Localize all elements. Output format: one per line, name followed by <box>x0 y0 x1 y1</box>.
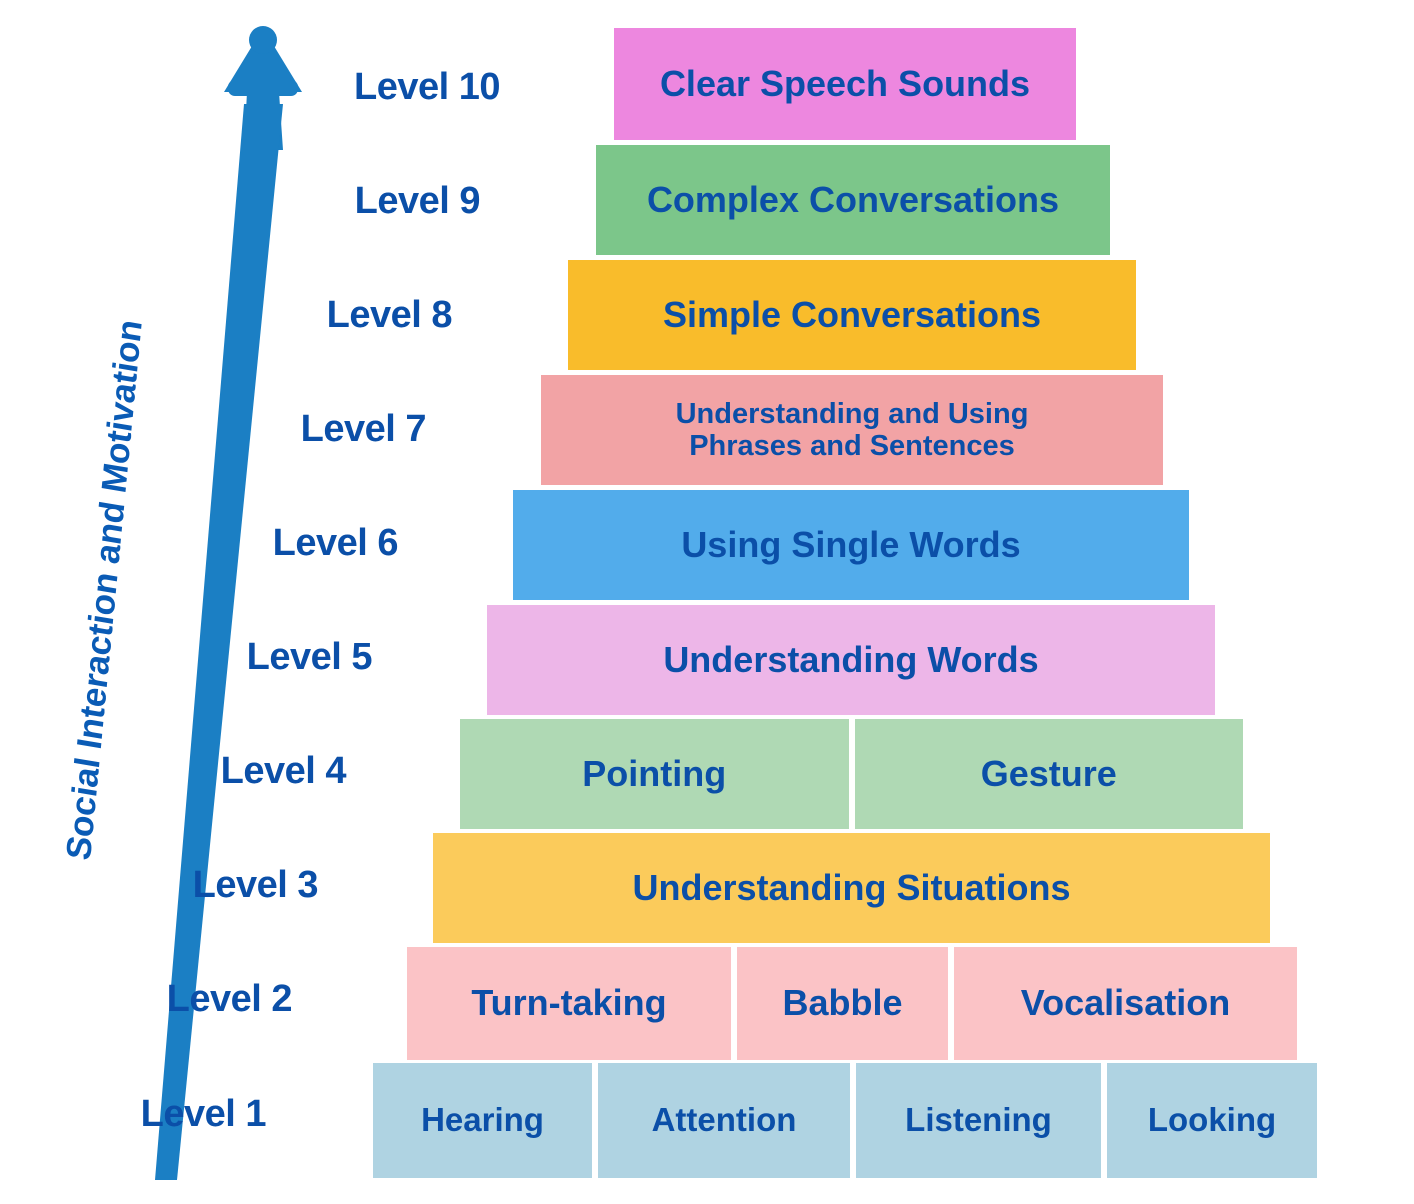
level-label-5: Level 5 <box>182 636 372 679</box>
pyramid-cell-understanding-situations[interactable]: Understanding Situations <box>433 833 1270 943</box>
pyramid-row-7: Understanding and Using Phrases and Sent… <box>541 375 1163 485</box>
pyramid-cell-vocalisation[interactable]: Vocalisation <box>954 947 1297 1060</box>
level-label-8: Level 8 <box>262 294 452 337</box>
pyramid-cell-attention[interactable]: Attention <box>598 1063 850 1178</box>
pyramid-row-5: Understanding Words <box>487 605 1215 715</box>
pyramid-row-3: Understanding Situations <box>433 833 1270 943</box>
pyramid-row-8: Simple Conversations <box>568 260 1136 370</box>
pyramid-row-4: Pointing Gesture <box>460 719 1243 829</box>
level-label-2: Level 2 <box>102 978 292 1021</box>
pyramid-row-1: Hearing Attention Listening Looking <box>373 1063 1317 1178</box>
pyramid-cell-understanding-and-using-phrases-and-sentences[interactable]: Understanding and Using Phrases and Sent… <box>541 375 1163 485</box>
level-label-6: Level 6 <box>208 522 398 565</box>
level-label-7: Level 7 <box>236 408 426 451</box>
pyramid-cell-hearing[interactable]: Hearing <box>373 1063 592 1178</box>
axis-label-social-interaction-and-motivation: Social Interaction and Motivation <box>56 278 155 902</box>
level-label-4: Level 4 <box>156 750 346 793</box>
pyramid-row-6: Using Single Words <box>513 490 1189 600</box>
pyramid-cell-babble[interactable]: Babble <box>737 947 948 1060</box>
pyramid-cell-complex-conversations[interactable]: Complex Conversations <box>596 145 1110 255</box>
level-label-1: Level 1 <box>76 1093 266 1136</box>
pyramid-cell-gesture[interactable]: Gesture <box>855 719 1244 829</box>
pyramid-cell-looking[interactable]: Looking <box>1107 1063 1317 1178</box>
level-label-3: Level 3 <box>128 864 318 907</box>
pyramid-cell-simple-conversations[interactable]: Simple Conversations <box>568 260 1136 370</box>
pyramid-cell-line-2: Phrases and Sentences <box>689 430 1015 462</box>
pyramid-cell-turn-taking[interactable]: Turn-taking <box>407 947 731 1060</box>
pyramid-cell-using-single-words[interactable]: Using Single Words <box>513 490 1189 600</box>
pyramid-cell-line-1: Understanding and Using <box>676 398 1029 430</box>
pyramid-cell-pointing[interactable]: Pointing <box>460 719 849 829</box>
pyramid-cell-clear-speech-sounds[interactable]: Clear Speech Sounds <box>614 28 1076 140</box>
pyramid-row-10: Clear Speech Sounds <box>614 28 1076 140</box>
pyramid-cell-listening[interactable]: Listening <box>856 1063 1101 1178</box>
level-label-10: Level 10 <box>310 66 500 109</box>
pyramid-row-9: Complex Conversations <box>596 145 1110 255</box>
pyramid-row-2: Turn-taking Babble Vocalisation <box>407 947 1297 1060</box>
level-label-9: Level 9 <box>290 180 480 223</box>
pyramid-diagram: Social Interaction and Motivation Level … <box>0 0 1414 1204</box>
pyramid-cell-understanding-words[interactable]: Understanding Words <box>487 605 1215 715</box>
